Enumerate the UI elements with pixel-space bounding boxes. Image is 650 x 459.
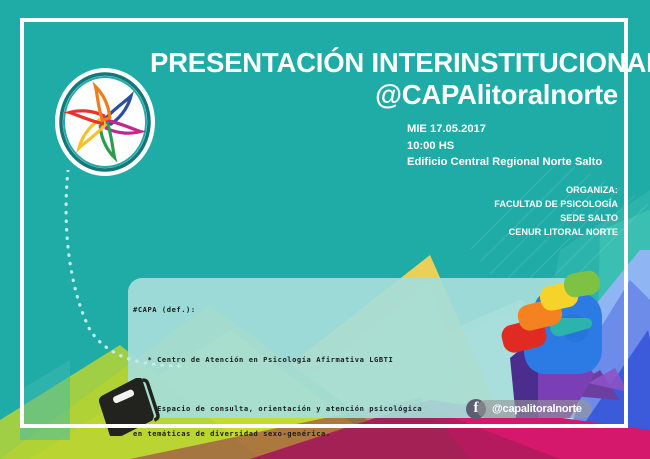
definition-panel-text: #CAPA (def.): * Centro de Atención en Ps… (133, 292, 573, 459)
facebook-badge[interactable]: f @capalitoralnorte (466, 398, 592, 419)
panel-line-1 (133, 331, 573, 342)
event-time: 10:00 HS (407, 138, 618, 154)
panel-line-2: * Centro de Atención en Psicología Afirm… (133, 356, 573, 367)
page-title: PRESENTACIÓN INTERINSTITUCIONAL (150, 48, 618, 79)
poster-canvas: PRESENTACIÓN INTERINSTITUCIONAL @CAPAlit… (0, 0, 650, 459)
organiza-label: ORGANIZA: (150, 184, 618, 198)
organiza-line-1: SEDE SALTO (150, 212, 618, 226)
headline-block: PRESENTACIÓN INTERINSTITUCIONAL @CAPAlit… (150, 48, 618, 240)
panel-line-6 (133, 454, 573, 459)
event-venue: Edificio Central Regional Norte Salto (407, 154, 618, 170)
book-icon (96, 378, 160, 436)
capa-rainbow-flower-logo (55, 68, 155, 176)
panel-line-0: #CAPA (def.): (133, 306, 573, 317)
facebook-handle[interactable]: @capalitoralnorte (477, 400, 592, 418)
organizer-block: ORGANIZA: FACULTAD DE PSICOLOGÍA SEDE SA… (150, 184, 618, 240)
organiza-line-0: FACULTAD DE PSICOLOGÍA (150, 198, 618, 212)
panel-line-3 (133, 380, 573, 391)
organiza-line-2: CENUR LITORAL NORTE (150, 226, 618, 240)
page-subtitle-handle: @CAPAlitoralnorte (150, 79, 618, 111)
event-date: MIE 17.05.2017 (407, 121, 618, 137)
panel-line-5: en temáticas de diversidad sexo-genérica… (133, 430, 573, 441)
event-details: MIE 17.05.2017 10:00 HS Edificio Central… (150, 121, 618, 170)
